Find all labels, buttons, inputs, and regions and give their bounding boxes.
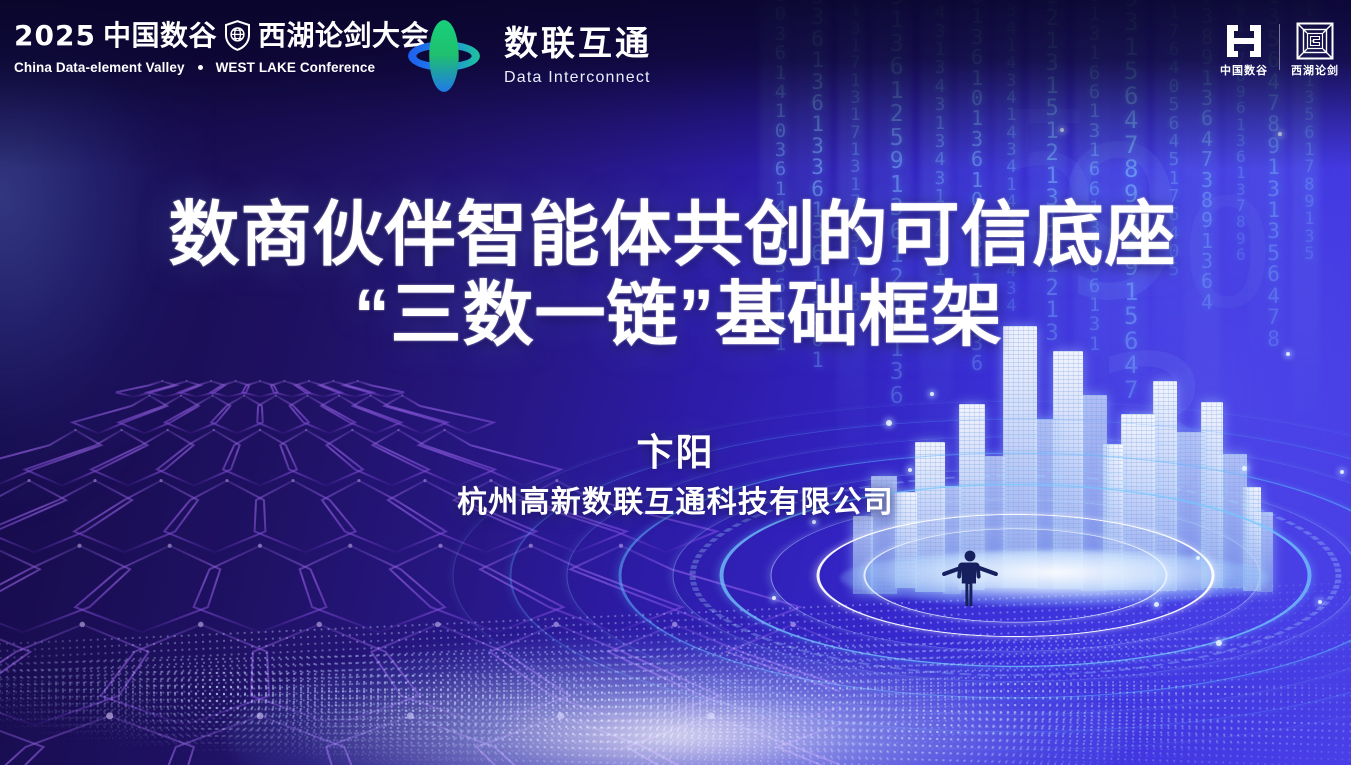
hexagon-cell bbox=[75, 546, 220, 633]
hexagon-cell bbox=[0, 546, 130, 633]
hexagon-node bbox=[258, 544, 262, 548]
brand-logo-text: 数联互通 Data Interconnect bbox=[504, 27, 652, 86]
person-silhouette bbox=[940, 548, 1000, 610]
partner-divider bbox=[1279, 24, 1280, 70]
light-particle bbox=[1278, 132, 1282, 136]
hexagon-node bbox=[308, 380, 310, 382]
hexagon-cell bbox=[300, 546, 445, 633]
partner-west-lake: 西湖论剑 bbox=[1291, 22, 1339, 77]
slide-title: 数商伙伴智能体共创的可信底座 “三数一链”基础框架 bbox=[0, 196, 1351, 355]
hexagon-node bbox=[259, 380, 261, 382]
slide-header: 2025 中国数谷 西湖论剑大会 China Data-element Vall… bbox=[0, 0, 1351, 112]
hexagon-node bbox=[338, 394, 340, 396]
hexagon-node bbox=[79, 622, 85, 628]
hexagon-cell bbox=[165, 396, 230, 434]
hexagon-node bbox=[213, 429, 215, 431]
conference-year: 2025 bbox=[14, 22, 96, 50]
hexagon-node bbox=[259, 429, 261, 431]
hexagon-node bbox=[438, 544, 442, 548]
hexagon-node bbox=[444, 429, 446, 431]
hexagon-node bbox=[351, 429, 353, 431]
light-particle bbox=[886, 420, 892, 426]
hexagon-cell bbox=[211, 396, 263, 434]
light-particle bbox=[1154, 602, 1159, 607]
hexagon-node bbox=[401, 394, 403, 396]
bullet-separator-icon bbox=[198, 65, 203, 70]
light-particle bbox=[930, 392, 934, 396]
hexagon-node bbox=[211, 394, 213, 396]
light-particle bbox=[772, 596, 776, 600]
hexagon-node bbox=[305, 429, 307, 431]
partner-china-data-valley: 中国数谷 bbox=[1220, 22, 1268, 77]
hexagon-node bbox=[210, 380, 212, 382]
brand-name-en: Data Interconnect bbox=[504, 70, 652, 86]
brand-name-cn: 数联互通 bbox=[504, 27, 652, 61]
hexagon-node bbox=[180, 394, 182, 396]
hexagon-node bbox=[357, 380, 359, 382]
light-particle bbox=[1216, 640, 1222, 646]
hexagon-node bbox=[186, 380, 188, 382]
hexagon-node bbox=[148, 394, 150, 396]
hexagon-node bbox=[74, 429, 76, 431]
hexagon-node bbox=[167, 429, 169, 431]
hexagon-node bbox=[234, 380, 236, 382]
title-line-1: 数商伙伴智能体共创的可信底座 bbox=[0, 196, 1351, 276]
conference-logo-en: China Data-element Valley WEST LAKE Conf… bbox=[14, 60, 429, 75]
hexagon-cell bbox=[0, 546, 40, 633]
hexagon-cell bbox=[290, 396, 355, 434]
light-particle bbox=[812, 520, 816, 524]
partner-label: 中国数谷 bbox=[1220, 66, 1268, 77]
hexagon-cell bbox=[344, 381, 404, 397]
hexagon-node bbox=[283, 380, 285, 382]
hexagon-cell bbox=[385, 396, 494, 434]
hexagon-node bbox=[370, 394, 372, 396]
hexagon-cell bbox=[257, 396, 309, 434]
china-data-valley-mark-icon bbox=[1223, 22, 1265, 60]
hexagon-node bbox=[77, 544, 81, 548]
title-line-2: “三数一链”基础框架 bbox=[6, 276, 1351, 356]
light-particle bbox=[1196, 556, 1200, 560]
hexagon-node bbox=[168, 544, 172, 548]
conference-logo-cn: 2025 中国数谷 西湖论剑大会 bbox=[14, 20, 429, 51]
hexagon-node bbox=[332, 380, 334, 382]
hud-rings bbox=[1015, 575, 1016, 576]
interlocking-rings-icon bbox=[398, 10, 490, 102]
light-particle bbox=[1318, 600, 1322, 604]
brand-logo: 数联互通 Data Interconnect bbox=[398, 10, 652, 102]
shield-globe-icon bbox=[224, 20, 251, 51]
presenter-organization: 杭州高新数联互通科技有限公司 bbox=[0, 485, 1351, 521]
partner-logos: 中国数谷 西湖论剑 bbox=[1220, 22, 1339, 77]
conference-name-en-left: China Data-element Valley bbox=[14, 60, 185, 75]
hexagon-cell bbox=[73, 396, 167, 434]
light-particle bbox=[1060, 128, 1064, 132]
hexagon-node bbox=[306, 394, 308, 396]
partner-label: 西湖论剑 bbox=[1291, 66, 1339, 77]
conference-name-en-right: WEST LAKE Conference bbox=[216, 60, 376, 75]
hexagon-node bbox=[161, 380, 163, 382]
conference-name-cn-left: 中国数谷 bbox=[103, 22, 217, 50]
hexagon-node bbox=[348, 544, 352, 548]
hexagon-node bbox=[243, 394, 245, 396]
hexagon-cell bbox=[353, 396, 447, 434]
hexagon-node bbox=[397, 429, 399, 431]
hexagon-node bbox=[198, 622, 204, 628]
hexagon-node bbox=[275, 394, 277, 396]
conference-logo: 2025 中国数谷 西湖论剑大会 China Data-element Vall… bbox=[14, 20, 429, 75]
presenter-info: 卞阳 杭州高新数联互通科技有限公司 bbox=[0, 432, 1351, 521]
west-lake-seal-mark-icon bbox=[1294, 22, 1336, 60]
hexagon-cell bbox=[116, 381, 176, 397]
hexagon-node bbox=[120, 429, 122, 431]
presentation-slide: 9350 10361410361410361413361361336136133… bbox=[0, 0, 1351, 765]
presenter-name: 卞阳 bbox=[0, 432, 1351, 475]
